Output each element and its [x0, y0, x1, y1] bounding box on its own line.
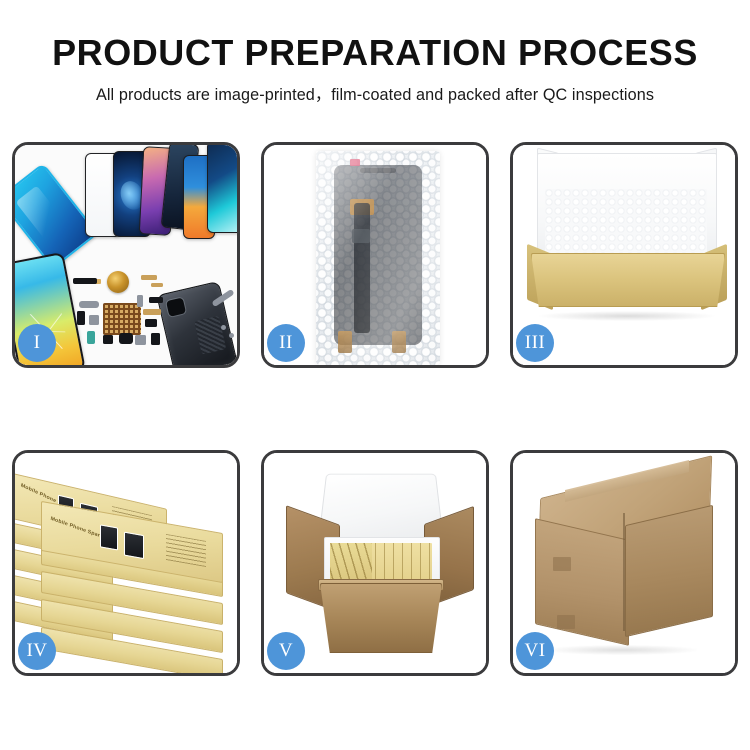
- page-title: PRODUCT PREPARATION PROCESS: [6, 0, 745, 72]
- chip-part: [137, 295, 143, 307]
- step-badge-2: II: [267, 324, 305, 362]
- mesh-board-part: [103, 303, 141, 335]
- drop-shadow: [547, 645, 697, 655]
- chip-part: [135, 335, 146, 345]
- carton-front-wall: [320, 583, 442, 653]
- carton-handle-tab: [553, 557, 571, 571]
- step-panel-6[interactable]: VI: [510, 450, 738, 676]
- step-badge-5: V: [267, 632, 305, 670]
- step-badge-1: I: [18, 324, 56, 362]
- page-header: PRODUCT PREPARATION PROCESS All products…: [0, 0, 750, 105]
- chip-part: [141, 275, 157, 280]
- step-panel-5[interactable]: V: [261, 450, 489, 676]
- step-panel-1[interactable]: I: [12, 142, 240, 368]
- box-screen-graphic: [124, 532, 144, 560]
- chip-part: [145, 319, 157, 327]
- chip-part: [103, 335, 113, 344]
- chip-part: [151, 283, 163, 287]
- step-panel-3[interactable]: III: [510, 142, 738, 368]
- drop-shadow: [539, 311, 715, 321]
- carton-left-face: [535, 518, 629, 646]
- step-panel-2[interactable]: II: [261, 142, 489, 368]
- process-steps-grid: I II: [12, 142, 738, 676]
- chip-part: [151, 333, 160, 345]
- bubble-wrap: [316, 151, 440, 365]
- gold-box-front: [531, 253, 725, 307]
- carton-right-face: [625, 505, 713, 637]
- pink-label: [350, 159, 360, 166]
- step-panel-4[interactable]: Mobile Phone Spare Parts Mobile Phone Sp…: [12, 450, 240, 676]
- phone-screen-teal: [207, 145, 237, 233]
- step-badge-4: IV: [18, 632, 56, 670]
- flex-ribbon: [354, 203, 370, 333]
- copper-coil-part: [107, 271, 129, 293]
- chip-part: [73, 278, 97, 284]
- chip-part: [79, 301, 99, 308]
- chip-part: [87, 331, 95, 344]
- box-spec-text: [166, 534, 206, 567]
- chip-part: [119, 333, 133, 344]
- page-subtitle: All products are image-printed，film-coat…: [0, 72, 750, 105]
- step-badge-3: III: [516, 324, 554, 362]
- screw-part: [229, 333, 234, 338]
- carton-corner-seam: [623, 513, 625, 631]
- step-badge-6: VI: [516, 632, 554, 670]
- ribbon-foot-left: [338, 331, 352, 353]
- carton-handle-tab: [557, 615, 575, 629]
- lcd-screen: [334, 165, 422, 345]
- chip-part: [143, 309, 161, 315]
- chip-part: [149, 297, 163, 303]
- screw-part: [221, 325, 226, 330]
- ribbon-foot-right: [392, 331, 406, 353]
- box-screen-graphic: [100, 524, 118, 550]
- chip-part: [89, 315, 99, 325]
- driver-chip: [352, 229, 370, 243]
- chip-part: [77, 311, 85, 325]
